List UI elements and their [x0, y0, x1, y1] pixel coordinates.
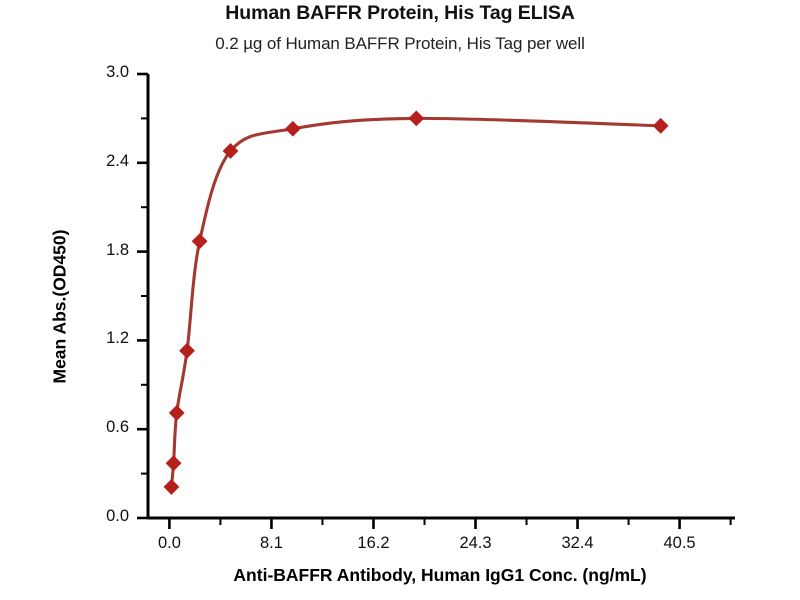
y-tick-label: 0.0: [85, 507, 129, 526]
data-point-markers: [164, 111, 668, 494]
x-tick-label: 32.4: [548, 534, 608, 553]
y-tick-label: 1.2: [85, 329, 129, 348]
data-point-marker: [653, 119, 667, 133]
x-tick-label: 24.3: [446, 534, 506, 553]
y-tick-label: 3.0: [85, 63, 129, 82]
x-tick-label: 0.0: [139, 534, 199, 553]
data-point-marker: [192, 234, 206, 248]
data-point-marker: [409, 111, 423, 125]
data-point-marker: [180, 344, 194, 358]
x-tick-label: 16.2: [343, 534, 403, 553]
data-point-marker: [166, 456, 180, 470]
x-tick-label: 40.5: [650, 534, 710, 553]
axis-ticks: [137, 74, 731, 529]
axes: [148, 74, 735, 518]
data-point-marker: [170, 406, 184, 420]
elisa-chart-figure: Human BAFFR Protein, His Tag ELISA 0.2 µ…: [0, 0, 800, 600]
y-tick-label: 0.6: [85, 418, 129, 437]
data-point-marker: [286, 122, 300, 136]
y-tick-label: 1.8: [85, 241, 129, 260]
y-tick-label: 2.4: [85, 152, 129, 171]
fit-curve: [171, 118, 660, 487]
data-point-marker: [164, 480, 178, 494]
x-tick-label: 8.1: [241, 534, 301, 553]
